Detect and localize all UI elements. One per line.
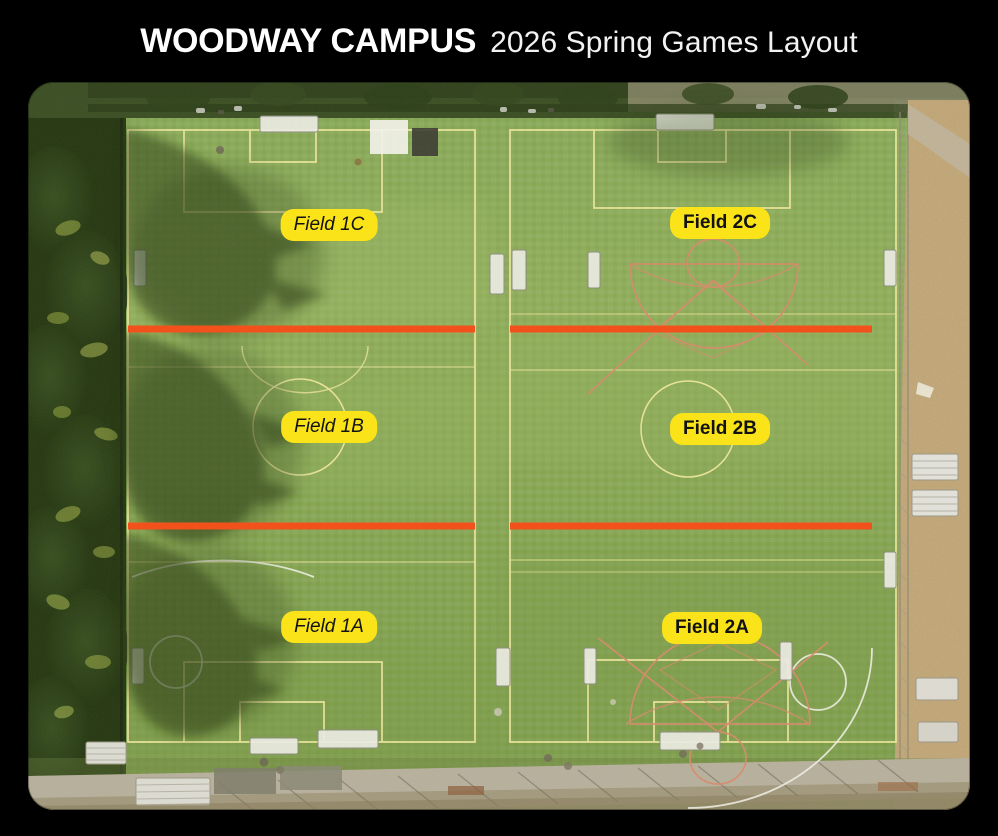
page-root: WOODWAY CAMPUS 2026 Spring Games Layout: [0, 0, 998, 836]
page-title: WOODWAY CAMPUS: [140, 22, 476, 61]
field-2c-label[interactable]: Field 2C: [670, 207, 770, 239]
page-header: WOODWAY CAMPUS 2026 Spring Games Layout: [0, 0, 998, 82]
title-block: WOODWAY CAMPUS 2026 Spring Games Layout: [140, 22, 857, 61]
field-1c-label[interactable]: Field 1C: [281, 209, 378, 241]
aerial-map-graphic: [28, 82, 970, 810]
field-2a-label[interactable]: Field 2A: [662, 612, 762, 644]
field-1b-label[interactable]: Field 1B: [281, 411, 377, 443]
page-subtitle: 2026 Spring Games Layout: [490, 26, 858, 60]
field-1a-label[interactable]: Field 1A: [281, 611, 377, 643]
aerial-map[interactable]: [28, 82, 970, 810]
field-2b-label[interactable]: Field 2B: [670, 413, 770, 445]
